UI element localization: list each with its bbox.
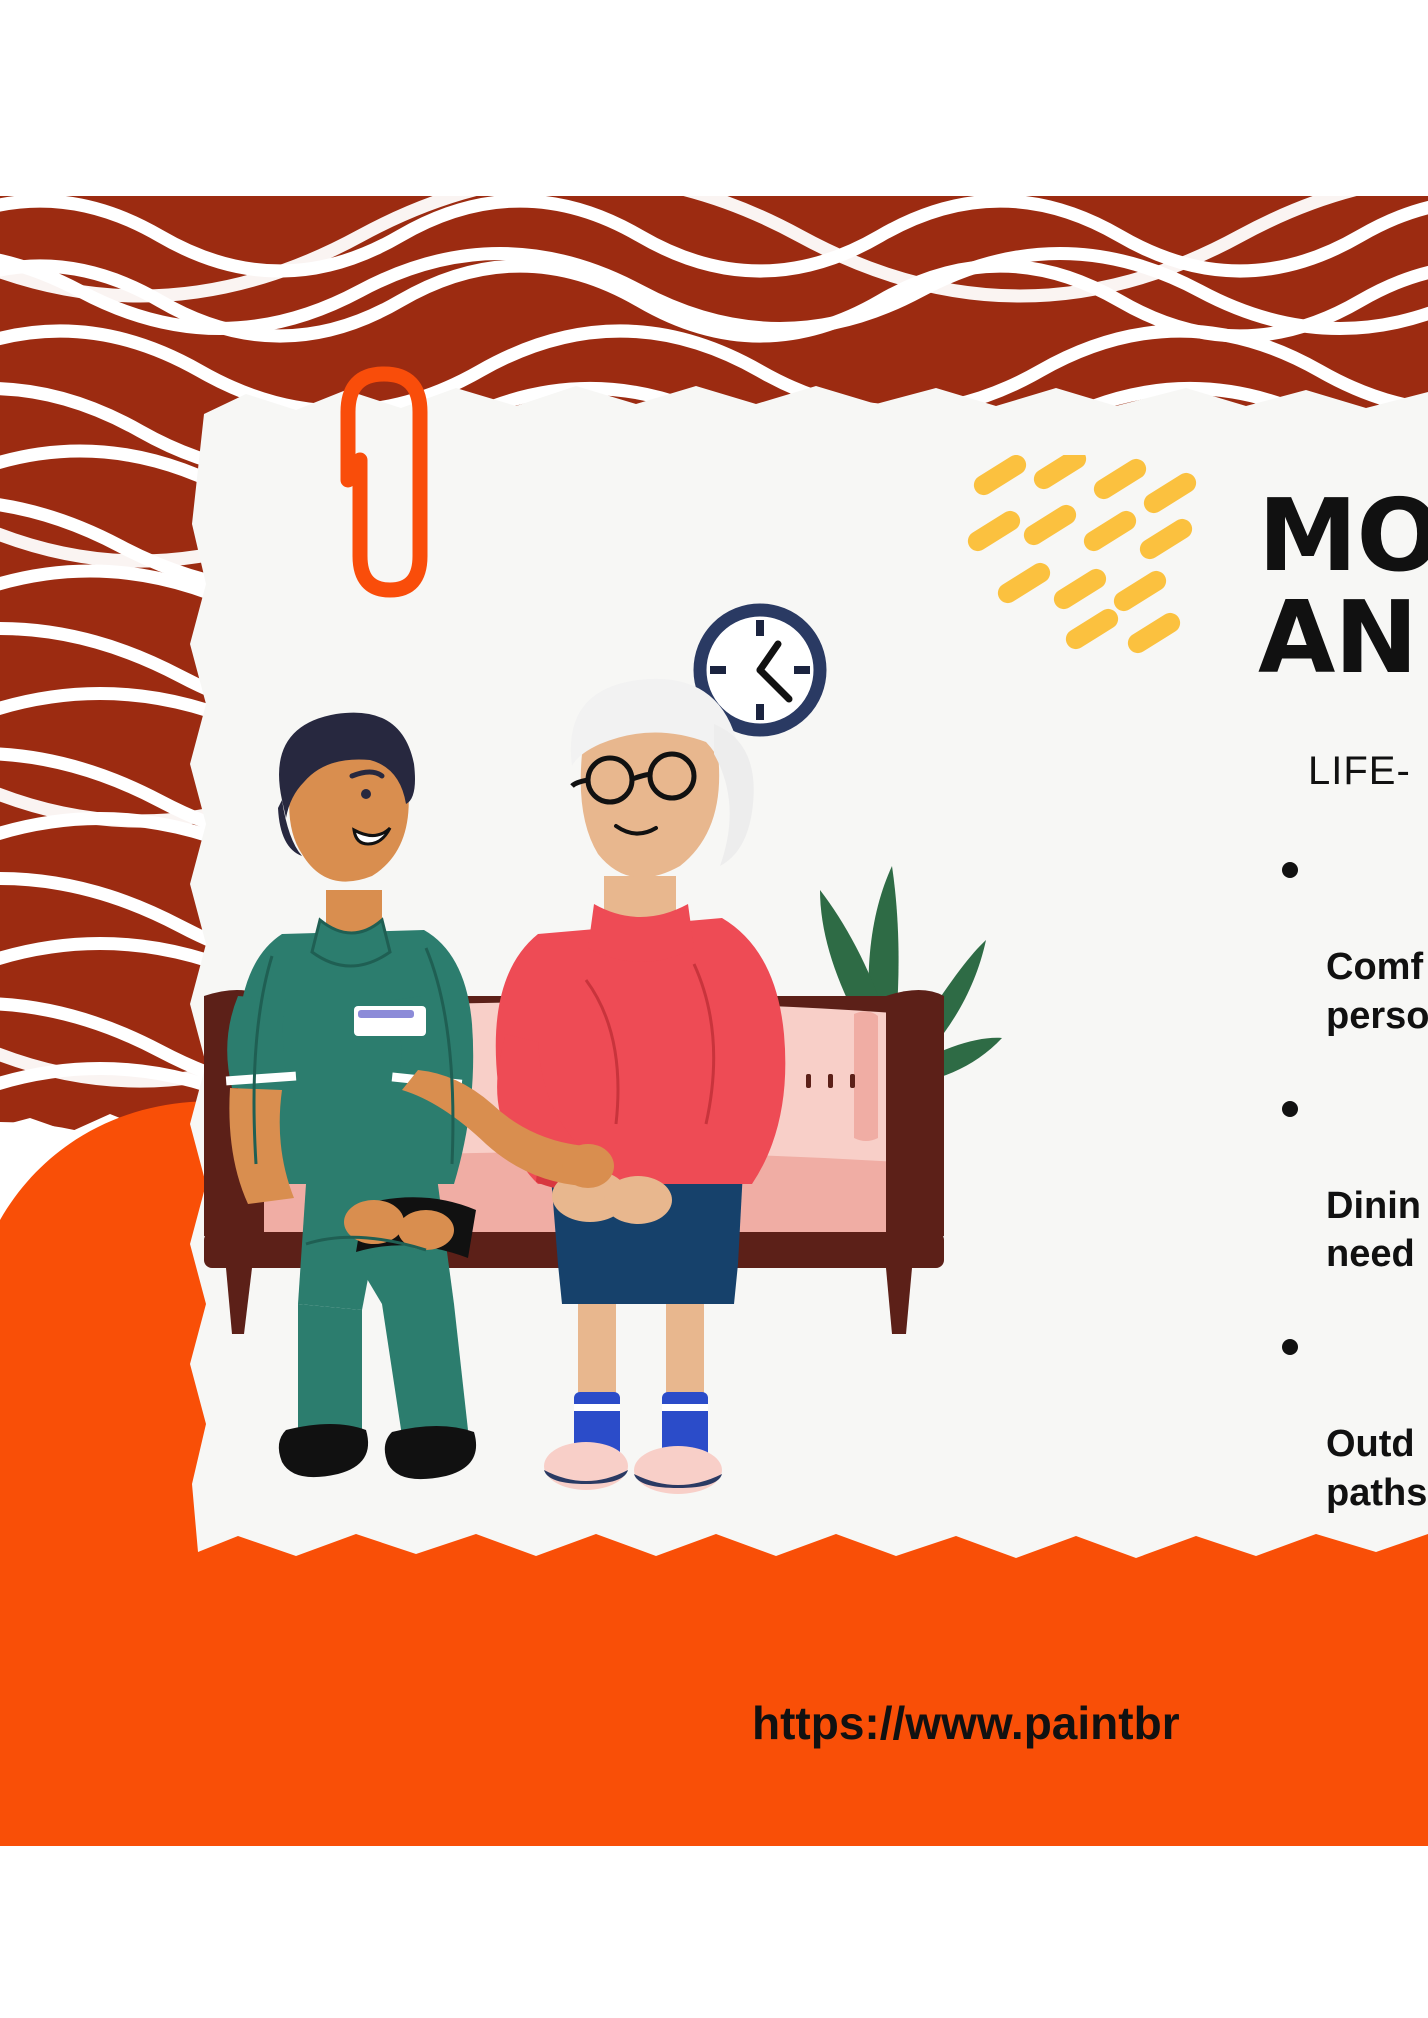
headline-line-2: AN (1258, 587, 1428, 689)
bullet-dot-icon (1282, 1339, 1298, 1355)
website-url[interactable]: https://www.paintbr (752, 1696, 1180, 1750)
list-item: Comf perso (1278, 846, 1428, 1041)
list-item-text: Dinin need (1326, 1185, 1421, 1276)
list-item-text: Outd paths (1326, 1423, 1427, 1514)
bullet-dot-icon (1282, 862, 1298, 878)
list-item: Dinin need (1278, 1085, 1428, 1280)
subtitle-text: LIFE- (1308, 749, 1428, 794)
poster-root: MO AN LIFE- Comf perso Dinin need Outd p… (0, 0, 1428, 2018)
bullet-dot-icon (1282, 1101, 1298, 1117)
headline-line-1: MO (1258, 485, 1428, 587)
benefits-list: Comf perso Dinin need Outd paths (1278, 846, 1428, 1518)
list-item: Outd paths (1278, 1323, 1428, 1518)
senior-figure (496, 679, 786, 1494)
list-item-text: Comf perso (1326, 946, 1428, 1037)
yellow-dashes-decoration (965, 455, 1205, 655)
caregiver-and-senior-illustration (186, 604, 1186, 1504)
headline-and-body-column: MO AN LIFE- Comf perso Dinin need Outd p… (1258, 485, 1428, 1562)
paperclip-icon (330, 360, 440, 610)
